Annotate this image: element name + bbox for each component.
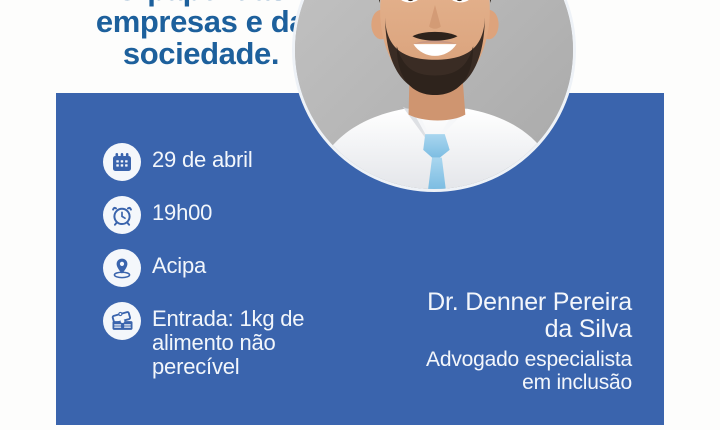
location-pin-icon [103, 249, 141, 287]
alarm-clock-icon [103, 196, 141, 234]
speaker-name: Dr. Denner Pereira da Silva [312, 289, 632, 343]
list-item: 29 de abril [103, 143, 363, 181]
event-poster: O papel das empresas e da sociedade. [0, 0, 720, 430]
list-item-label: 29 de abril [152, 143, 253, 172]
list-item: 19h00 [103, 196, 363, 234]
calendar-icon [103, 143, 141, 181]
list-item-label: Entrada: 1kg de alimento não perecível [152, 302, 304, 378]
ticket-icon [103, 302, 141, 340]
list-item-label: 19h00 [152, 196, 212, 225]
speaker-role: Advogado especialista em inclusão [312, 348, 632, 394]
list-item-label: Acipa [152, 249, 206, 278]
list-item: Acipa [103, 249, 363, 287]
speaker-info: Dr. Denner Pereira da Silva Advogado esp… [312, 289, 632, 394]
